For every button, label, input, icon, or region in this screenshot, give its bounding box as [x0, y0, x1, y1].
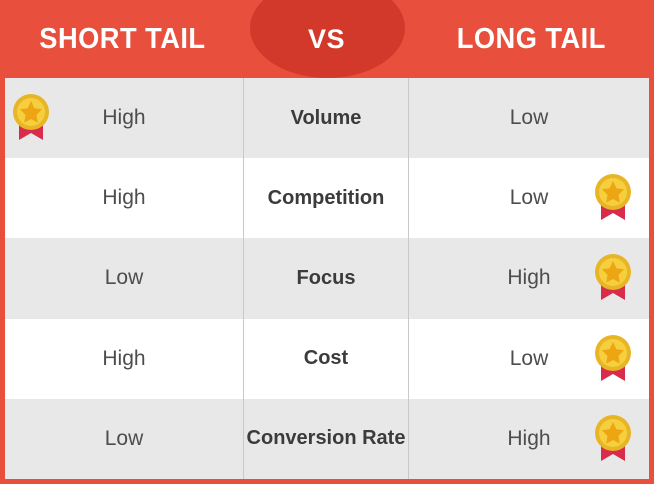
comparison-infographic: SHORT TAIL VS LONG TAIL High	[0, 0, 654, 484]
header-cells: SHORT TAIL VS LONG TAIL	[0, 0, 654, 78]
cell-short-tail-value: Low	[5, 399, 244, 479]
short-tail-value: High	[102, 106, 145, 130]
table-row-volume: High Volume Low	[5, 78, 649, 158]
metric-label: Competition	[268, 187, 385, 210]
medal-icon	[591, 411, 635, 467]
long-tail-value: Low	[510, 106, 549, 130]
header-band: SHORT TAIL VS LONG TAIL	[0, 0, 654, 78]
table-row-focus: Low Focus High	[5, 238, 649, 318]
header-vs-label: VS	[308, 24, 345, 55]
short-tail-value: Low	[105, 266, 144, 290]
cell-long-tail-value: Low	[409, 78, 649, 158]
medal-icon	[591, 331, 635, 387]
cell-metric-label: Competition	[244, 158, 409, 238]
medal-icon	[9, 90, 53, 146]
header-cell-short-tail: SHORT TAIL	[0, 0, 244, 78]
header-title-left: SHORT TAIL	[39, 23, 205, 56]
cell-short-tail-value: High	[5, 158, 244, 238]
cell-long-tail-value: Low	[409, 319, 649, 399]
table-row-cost: High Cost Low	[5, 319, 649, 399]
metric-label: Conversion Rate	[247, 427, 406, 450]
comparison-table: High Volume Low	[0, 78, 654, 484]
metric-label: Focus	[297, 267, 356, 290]
header-cell-long-tail: LONG TAIL	[409, 0, 654, 78]
short-tail-value: Low	[105, 427, 144, 451]
short-tail-value: High	[102, 186, 145, 210]
long-tail-value: High	[507, 266, 550, 290]
long-tail-value: Low	[510, 347, 549, 371]
cell-metric-label: Cost	[244, 319, 409, 399]
cell-metric-label: Focus	[244, 238, 409, 318]
comparison-rows: High Volume Low	[5, 78, 649, 479]
cell-long-tail-value: High	[409, 238, 649, 318]
cell-long-tail-value: Low	[409, 158, 649, 238]
cell-metric-label: Conversion Rate	[244, 399, 409, 479]
short-tail-value: High	[102, 347, 145, 371]
cell-short-tail-value: High	[5, 319, 244, 399]
metric-label: Volume	[291, 107, 362, 130]
cell-short-tail-value: Low	[5, 238, 244, 318]
table-row-conversion-rate: Low Conversion Rate High	[5, 399, 649, 479]
header-cell-vs: VS	[244, 0, 409, 78]
medal-icon	[591, 170, 635, 226]
cell-short-tail-value: High	[5, 78, 244, 158]
long-tail-value: High	[507, 427, 550, 451]
header-title-right: LONG TAIL	[457, 23, 606, 56]
medal-icon	[591, 250, 635, 306]
metric-label: Cost	[304, 347, 348, 370]
cell-long-tail-value: High	[409, 399, 649, 479]
table-row-competition: High Competition Low	[5, 158, 649, 238]
long-tail-value: Low	[510, 186, 549, 210]
cell-metric-label: Volume	[244, 78, 409, 158]
